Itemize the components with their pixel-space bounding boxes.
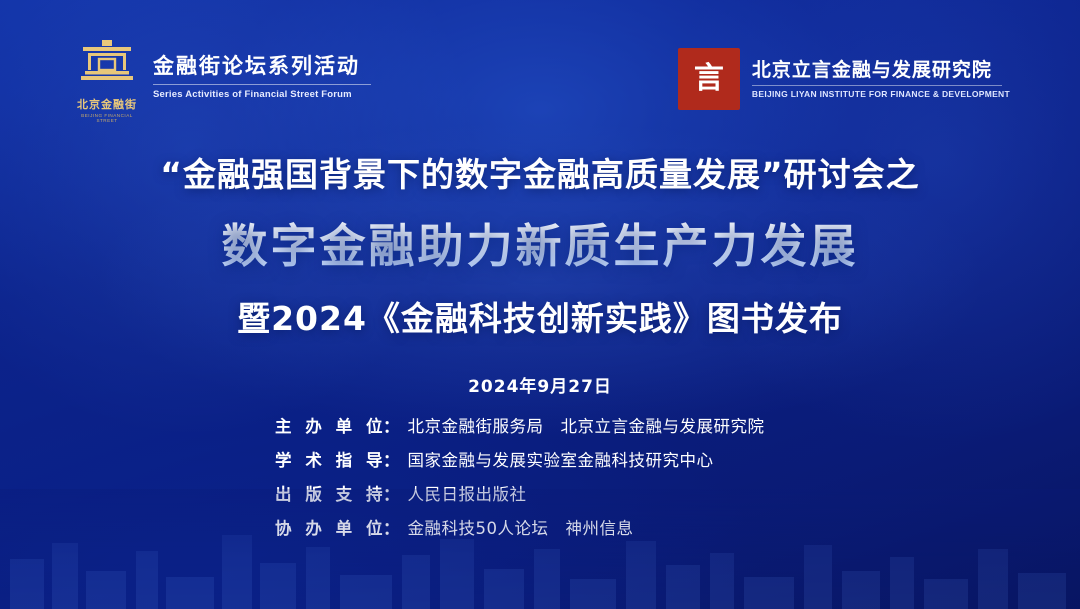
- institute-title-cn: 北京立言金融与发展研究院: [752, 59, 1010, 82]
- divider-right-logo: [752, 85, 1002, 86]
- city-skyline-graphic: [0, 489, 1080, 609]
- event-date: 2024年9月27日: [0, 372, 1080, 397]
- title-line-1: “金融强国背景下的数字金融高质量发展”研讨会之: [0, 148, 1080, 196]
- poster-canvas: 北京金融街 BEIJING FINANCIAL STREET 金融街论坛系列活动…: [0, 0, 1080, 609]
- gate-tower-icon: 北京金融街 BEIJING FINANCIAL STREET: [75, 40, 139, 112]
- credit-colon: ：: [383, 413, 400, 437]
- credit-row: 学术指导 ： 国家金融与发展实验室金融科技研究中心: [275, 447, 805, 471]
- forum-title-en: Series Activities of Financial Street Fo…: [153, 89, 371, 100]
- financial-street-logo: 北京金融街 BEIJING FINANCIAL STREET 金融街论坛系列活动…: [75, 40, 371, 112]
- credit-colon: ：: [383, 447, 400, 471]
- forum-title-cn: 金融街论坛系列活动: [153, 54, 371, 78]
- title-line-3: 暨2024《金融科技创新实践》图书发布: [0, 292, 1080, 340]
- gate-mark-sublabel: BEIJING FINANCIAL STREET: [75, 113, 139, 123]
- credit-label: 主办单位: [275, 413, 383, 437]
- divider-left-logo: [153, 84, 371, 85]
- credit-value: 国家金融与发展实验室金融科技研究中心: [408, 447, 714, 471]
- title-line-2-main: 数字金融助力新质生产力发展: [0, 210, 1080, 276]
- seal-character: 言: [694, 64, 724, 94]
- liyan-institute-logo: 言 北京立言金融与发展研究院 BEIJING LIYAN INSTITUTE F…: [678, 48, 1010, 110]
- title-block: “金融强国背景下的数字金融高质量发展”研讨会之 数字金融助力新质生产力发展 暨2…: [0, 148, 1080, 397]
- seal-icon: 言: [678, 48, 740, 110]
- institute-title-en: BEIJING LIYAN INSTITUTE FOR FINANCE & DE…: [752, 89, 1010, 99]
- gate-mark-label: 北京金融街: [75, 96, 139, 112]
- credit-label: 学术指导: [275, 447, 383, 471]
- credit-row: 主办单位 ： 北京金融街服务局 北京立言金融与发展研究院: [275, 413, 805, 437]
- credit-value: 北京金融街服务局 北京立言金融与发展研究院: [408, 413, 765, 437]
